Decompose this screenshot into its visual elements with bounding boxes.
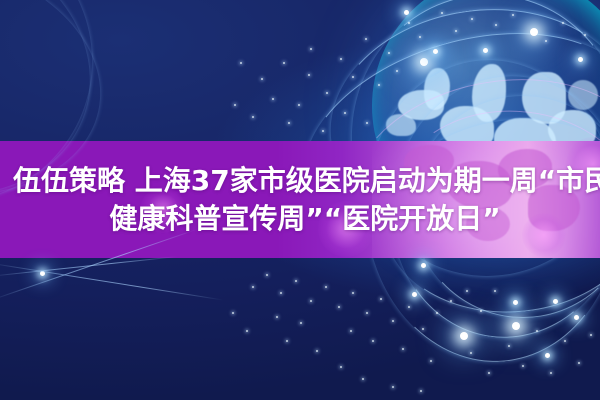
banner-image: 伍伍策略 上海37家市级医院启动为期一周“市民 健康科普宣传周”“医院开放日” [0,0,600,400]
network-node [460,332,468,340]
decorative-line [0,262,223,301]
network-node [512,322,520,330]
network-node [513,300,518,305]
network-node [421,263,426,268]
network-node [545,353,550,358]
network-node [404,10,409,15]
network-node [483,48,488,53]
network-node [530,28,538,36]
headline-line-1: 伍伍策略 上海37家市级医院启动为期一周“市民 [13,165,600,196]
network-node [574,315,579,320]
network-node [433,49,438,54]
network-node [420,58,428,66]
network-node [412,292,417,297]
network-node [578,57,583,62]
headline-block: 伍伍策略 上海37家市级医院启动为期一周“市民 健康科普宣传周”“医院开放日” [0,141,600,258]
network-node [553,299,558,304]
headline-line-2: 健康科普宣传周”“医院开放日” [109,203,500,234]
